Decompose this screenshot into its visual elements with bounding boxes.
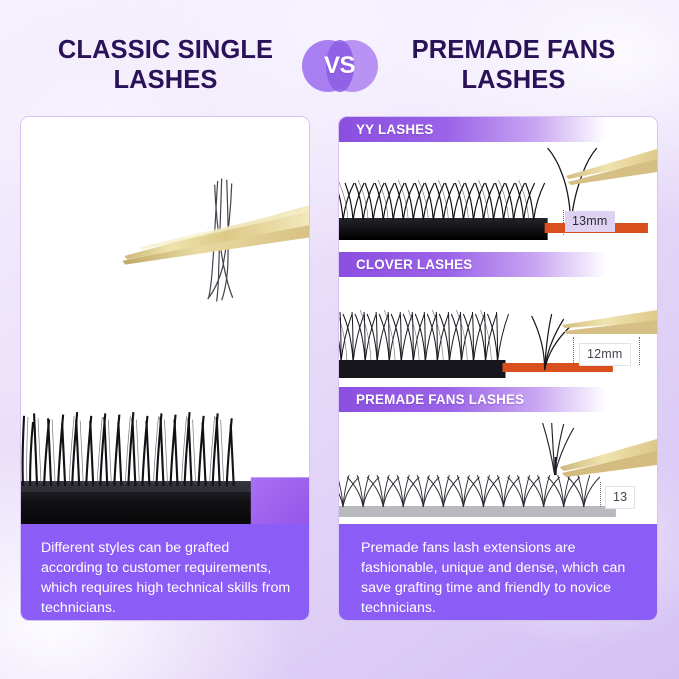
section-premade-fans: PREMADE FANS LASHES 13: [339, 387, 657, 526]
comparison-header: CLASSIC SINGLE LASHES VS PREMADE FANS LA…: [0, 28, 679, 104]
premade-measurement-chip: 13: [605, 486, 635, 509]
left-title: CLASSIC SINGLE LASHES: [30, 36, 302, 95]
clover-lashes-header-bar: CLOVER LASHES: [339, 252, 657, 277]
yy-measure-tick: [563, 210, 564, 235]
right-title: PREMADE FANS LASHES: [378, 36, 650, 95]
yy-measurement-chip: 13mm: [565, 211, 615, 232]
vs-badge: VS: [302, 38, 378, 94]
premade-fans-title: PREMADE FANS LASHES: [339, 392, 524, 407]
premade-fans-header-bar: PREMADE FANS LASHES: [339, 387, 657, 412]
right-panel-body: YY LASHES 13mm: [339, 117, 657, 620]
panel-premade-fans-lashes: YY LASHES 13mm: [338, 116, 658, 621]
left-panel-body: Different styles can be grafted accordin…: [21, 117, 309, 620]
clover-lashes-title: CLOVER LASHES: [339, 257, 472, 272]
clover-measurement-chip: 12mm: [579, 343, 631, 366]
section-yy-lashes: YY LASHES 13mm: [339, 117, 657, 252]
section-clover-lashes: CLOVER LASHES 12mm: [339, 252, 657, 387]
vs-label: VS: [324, 52, 355, 80]
left-caption: Different styles can be grafted accordin…: [21, 524, 309, 620]
clover-measure-tick-right: [639, 337, 640, 365]
panel-classic-single-lashes: Different styles can be grafted accordin…: [20, 116, 310, 621]
yy-lashes-title: YY LASHES: [339, 122, 433, 137]
yy-lashes-header-bar: YY LASHES: [339, 117, 657, 142]
premade-measure-tick: [600, 482, 601, 507]
clover-measure-tick-left: [573, 337, 574, 365]
right-caption: Premade fans lash extensions are fashion…: [339, 524, 657, 620]
